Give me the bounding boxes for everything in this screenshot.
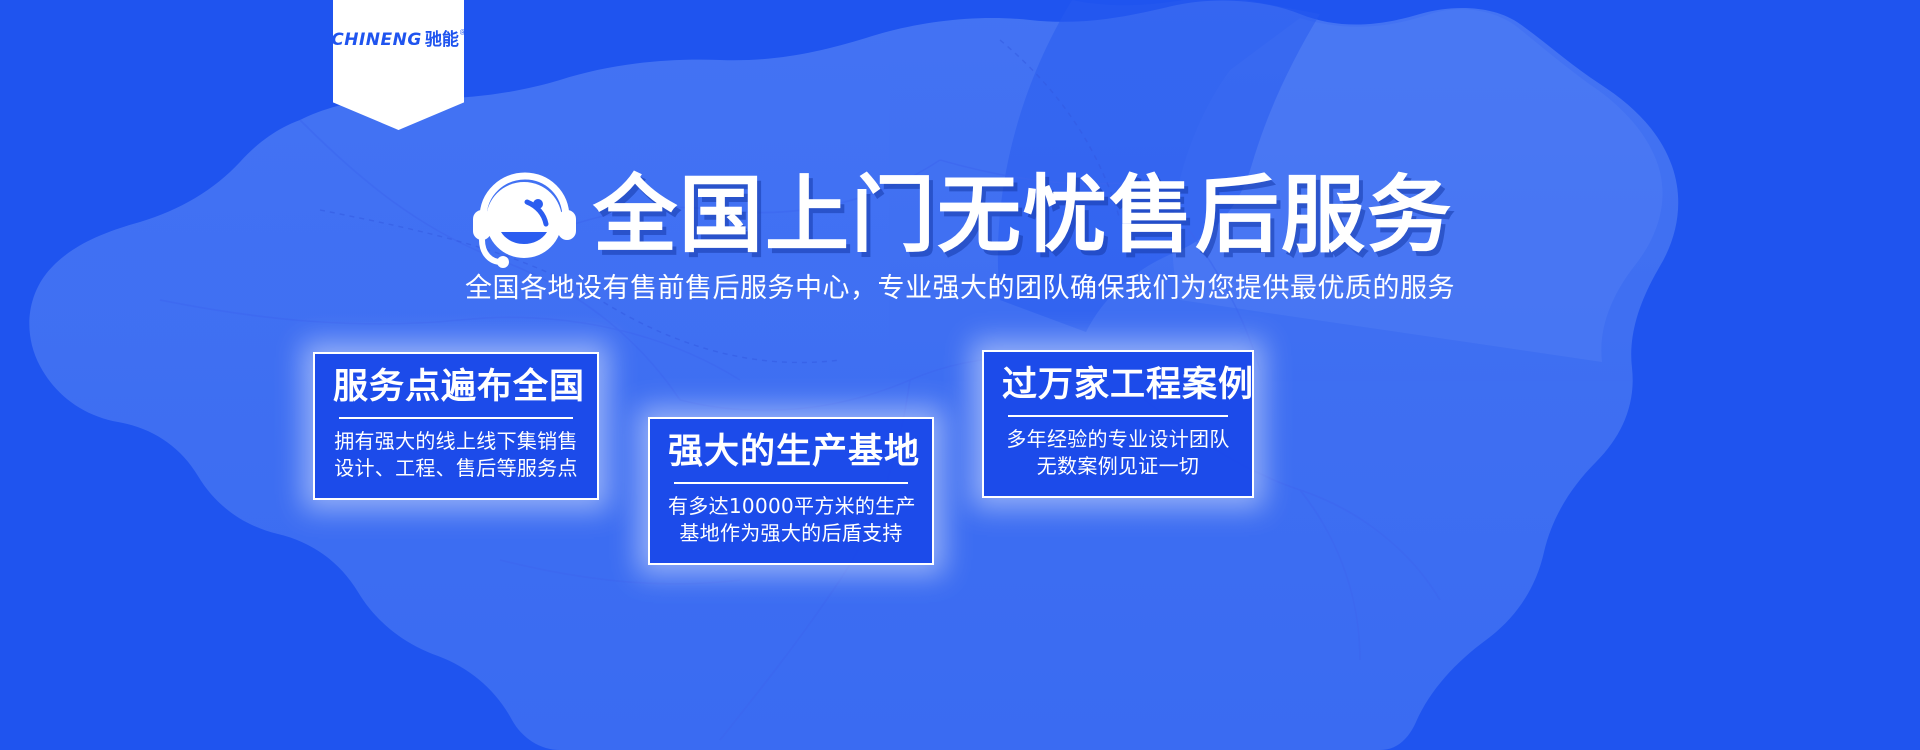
headset-smiley-icon bbox=[467, 162, 577, 268]
registered-trademark-icon: ® bbox=[460, 29, 466, 37]
feature-card-desc-line-2: 基地作为强大的后盾支持 bbox=[668, 520, 914, 547]
brand-name-latin: CHINENG bbox=[331, 32, 422, 49]
divider bbox=[1008, 415, 1228, 417]
divider bbox=[339, 417, 573, 419]
headline-row: 全国上门无忧售后服务 bbox=[0, 162, 1920, 268]
feature-card-service-points[interactable]: 服务点遍布全国 拥有强大的线上线下集销售 设计、工程、售后等服务点 bbox=[313, 352, 599, 500]
feature-card-title: 过万家工程案例 bbox=[1002, 364, 1234, 408]
map-landmass bbox=[29, 0, 1678, 750]
promo-banner: CHINENG 驰能 ® 全国上门无忧售后服务 全国各地设有售前售后服务中心，专… bbox=[0, 0, 1920, 750]
brand-name-cjk: 驰能 bbox=[425, 32, 459, 49]
china-map-background bbox=[0, 0, 1920, 750]
feature-card-project-cases[interactable]: 过万家工程案例 多年经验的专业设计团队 无数案例见证一切 bbox=[982, 350, 1254, 498]
feature-card-title: 服务点遍布全国 bbox=[333, 366, 579, 410]
brand-logo-ribbon[interactable]: CHINENG 驰能 ® bbox=[333, 0, 464, 130]
brand-logo-lockup: CHINENG 驰能 ® bbox=[331, 32, 465, 49]
feature-card-desc-line-1: 拥有强大的线上线下集销售 bbox=[333, 428, 579, 455]
divider bbox=[674, 482, 908, 484]
feature-card-desc-line-2: 设计、工程、售后等服务点 bbox=[333, 455, 579, 482]
feature-card-title: 强大的生产基地 bbox=[668, 431, 914, 475]
page-subtitle: 全国各地设有售前售后服务中心，专业强大的团队确保我们为您提供最优质的服务 bbox=[0, 272, 1920, 306]
feature-card-desc-line-1: 多年经验的专业设计团队 bbox=[1002, 426, 1234, 453]
feature-card-desc-line-2: 无数案例见证一切 bbox=[1002, 453, 1234, 480]
feature-card-production-base[interactable]: 强大的生产基地 有多达10000平方米的生产 基地作为强大的后盾支持 bbox=[648, 417, 934, 565]
page-title: 全国上门无忧售后服务 bbox=[593, 173, 1453, 257]
feature-card-desc-line-1: 有多达10000平方米的生产 bbox=[668, 493, 914, 520]
